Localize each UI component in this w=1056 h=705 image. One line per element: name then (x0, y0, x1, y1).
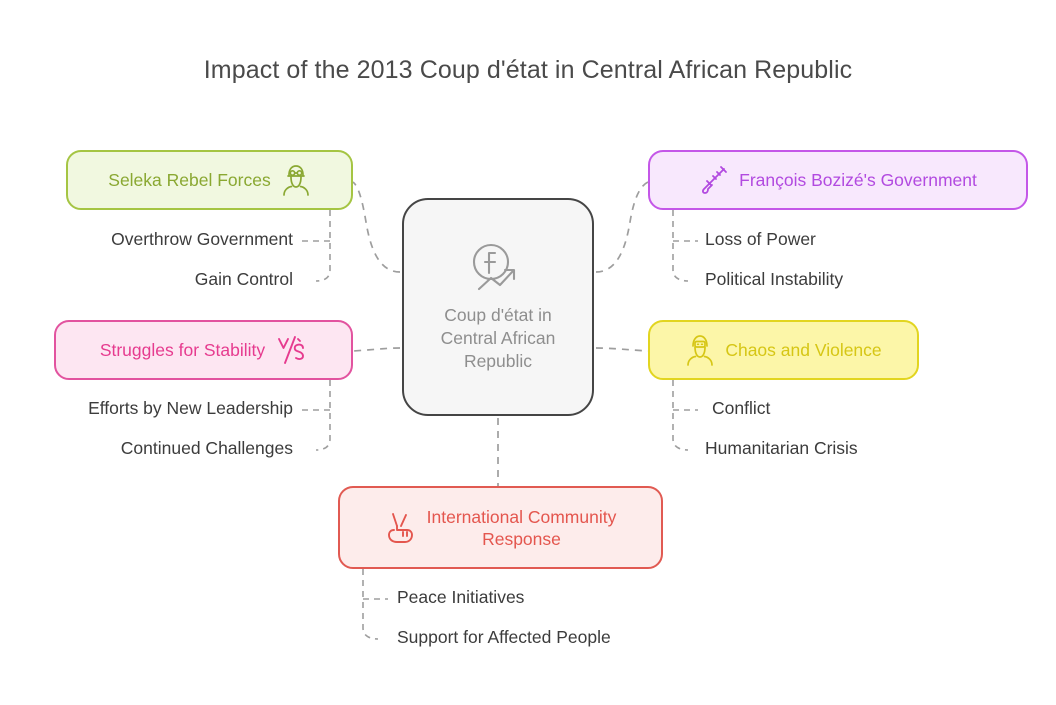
hooded-figure-icon (685, 334, 715, 366)
connector-central-bozize (596, 182, 648, 272)
connector-intl-subs (363, 569, 378, 639)
rifle-icon (699, 165, 729, 195)
mindmap-canvas: Impact of the 2013 Coup d'état in Centra… (0, 0, 1056, 705)
connector-seleka-subs (316, 210, 330, 281)
sub-item-chaos-1: Humanitarian Crisis (705, 437, 858, 459)
branch-node-international[interactable]: International Community Response (338, 486, 663, 569)
franc-trend-icon (467, 242, 529, 300)
sub-item-struggles-0: Efforts by New Leadership (0, 397, 293, 419)
connector-central-seleka (353, 182, 400, 272)
branch-label-struggles: Struggles for Stability (100, 339, 265, 361)
peace-hand-icon (385, 510, 417, 546)
connector-central-struggles (353, 348, 400, 351)
branch-node-seleka[interactable]: Seleka Rebel Forces (66, 150, 353, 210)
central-node-label: Coup d'état in Central African Republic (404, 304, 592, 373)
sub-item-intl-1: Support for Affected People (397, 626, 611, 648)
versus-icon (275, 334, 307, 366)
sub-item-chaos-0: Conflict (712, 397, 770, 419)
connector-bozize-subs (673, 210, 688, 281)
sub-item-intl-0: Peace Initiatives (397, 586, 524, 608)
central-node[interactable]: Coup d'état in Central African Republic (402, 198, 594, 416)
branch-label-chaos: Chaos and Violence (725, 339, 881, 361)
page-title: Impact of the 2013 Coup d'état in Centra… (0, 56, 1056, 85)
connector-central-chaos (596, 348, 648, 351)
branch-node-struggles[interactable]: Struggles for Stability (54, 320, 353, 380)
connector-chaos-subs (673, 380, 688, 450)
sub-item-bozize-0: Loss of Power (705, 228, 816, 250)
branch-node-bozize[interactable]: François Bozizé's Government (648, 150, 1028, 210)
branch-node-chaos[interactable]: Chaos and Violence (648, 320, 919, 380)
sub-item-seleka-0: Overthrow Government (0, 228, 293, 250)
sub-item-struggles-1: Continued Challenges (0, 437, 293, 459)
sub-item-bozize-1: Political Instability (705, 268, 843, 290)
branch-label-international: International Community Response (427, 506, 617, 550)
connector-struggles-subs (316, 380, 330, 450)
sub-item-seleka-1: Gain Control (0, 268, 293, 290)
branch-label-seleka: Seleka Rebel Forces (108, 169, 270, 191)
masked-militant-icon (281, 164, 311, 196)
branch-label-bozize: François Bozizé's Government (739, 169, 977, 191)
